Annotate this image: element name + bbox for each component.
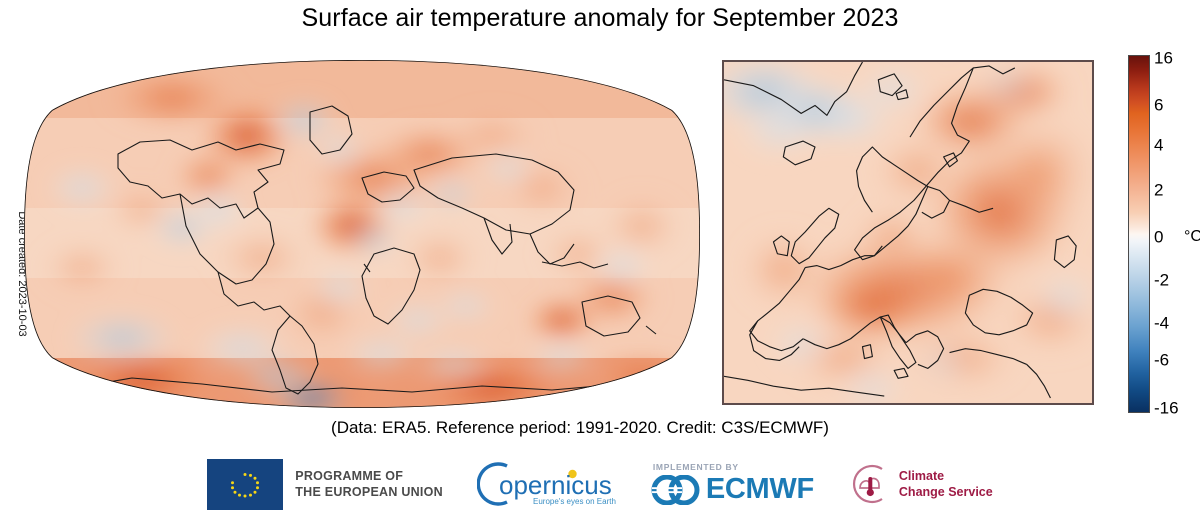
colorbar-unit-label: °C [1184, 228, 1200, 246]
colorbar-tick-neg6: -6 [1154, 352, 1169, 369]
europe-map-svg [724, 62, 1092, 403]
colorbar-tick-16: 16 [1154, 50, 1173, 67]
ecmwf-wordmark: ECMWF [706, 473, 814, 506]
eu-logo-line2: THE EUROPEAN UNION [295, 484, 443, 501]
copernicus-logo-icon: opernicus Europe's eyes on Earth [477, 461, 617, 507]
global-map-svg [22, 58, 702, 410]
eu-logo: PROGRAMME OF THE EUROPEAN UNION [207, 459, 443, 510]
eu-logo-text: PROGRAMME OF THE EUROPEAN UNION [295, 468, 443, 501]
global-map-panel [22, 58, 702, 410]
c3s-logo-line1: Climate [899, 468, 993, 484]
copernicus-tagline: Europe's eyes on Earth [533, 497, 616, 506]
europe-map-panel [722, 60, 1094, 405]
colorbar-tick-2: 2 [1154, 182, 1163, 199]
colorbar-tick-6: 6 [1154, 97, 1163, 114]
colorbar-tick-neg16: -16 [1154, 400, 1179, 417]
ecmwf-logo: IMPLEMENTED BY ECMWF [651, 462, 814, 506]
copernicus-logo: opernicus Europe's eyes on Earth [477, 461, 617, 507]
colorbar-tick-4: 4 [1154, 137, 1163, 154]
eu-logo-line1: PROGRAMME OF [295, 468, 443, 485]
ecmwf-implemented-by: IMPLEMENTED BY [653, 462, 739, 472]
colorbar-tick-0: 0 [1154, 229, 1163, 246]
ecmwf-globe-icon [651, 475, 701, 505]
ecmwf-main-row: ECMWF [651, 473, 814, 506]
logo-bar: PROGRAMME OF THE EUROPEAN UNION opernicu… [0, 455, 1200, 513]
colorbar-tick-neg2: -2 [1154, 272, 1169, 289]
c3s-logo-text: Climate Change Service [899, 468, 993, 501]
climate-thermometer-icon [848, 462, 892, 506]
c3s-logo-line2: Change Service [899, 484, 993, 500]
colorbar-tick-neg4: -4 [1154, 315, 1169, 332]
eu-flag-icon [207, 459, 283, 510]
figure-caption: (Data: ERA5. Reference period: 1991-2020… [0, 418, 1160, 438]
page-title: Surface air temperature anomaly for Sept… [0, 4, 1200, 33]
colorbar-gradient [1128, 55, 1150, 413]
colorbar: 16 6 4 2 0 -2 -4 -6 -16 °C [1128, 55, 1200, 415]
copernicus-wordmark: opernicus [499, 470, 612, 500]
c3s-logo: Climate Change Service [848, 462, 993, 506]
